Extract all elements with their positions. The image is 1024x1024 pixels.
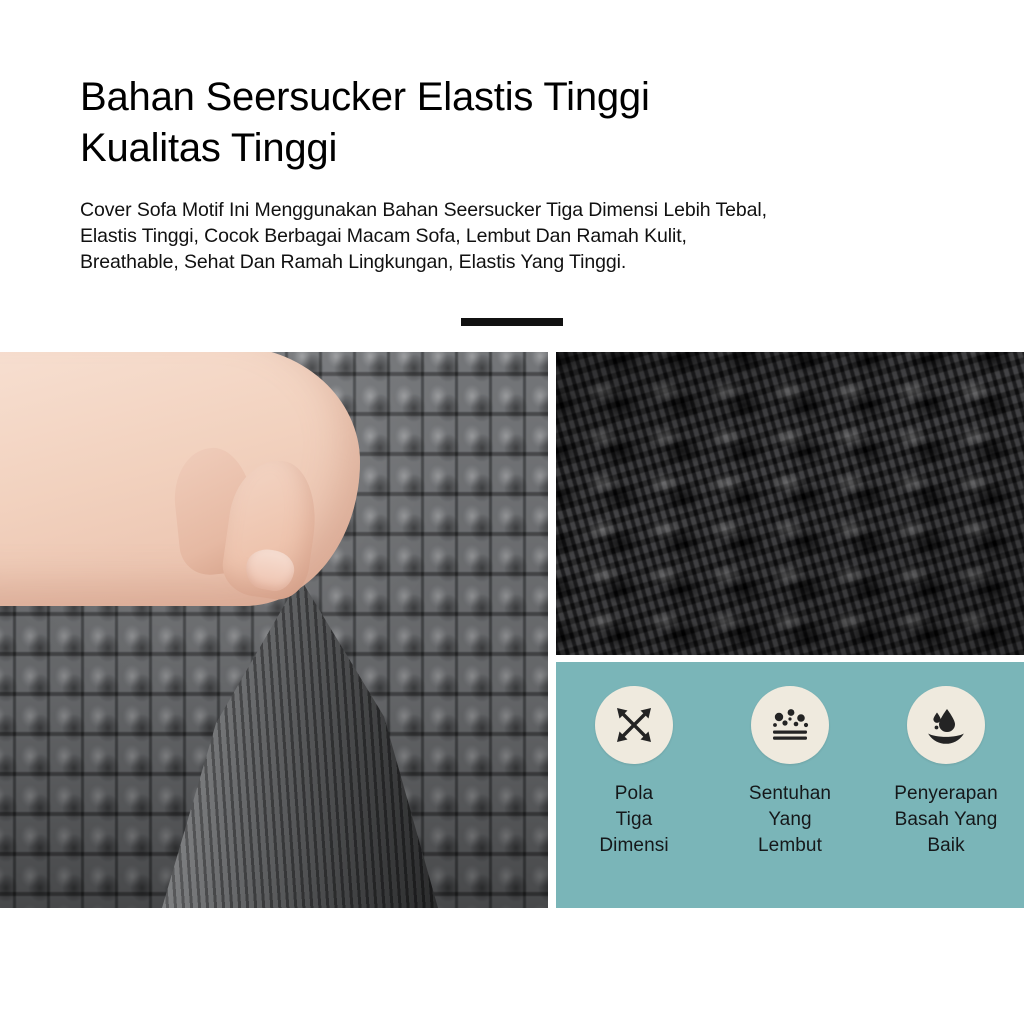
four-way-arrow-icon: [611, 702, 657, 748]
badge-circle: [595, 686, 673, 764]
feature-item-pola-tiga-dimensi: Pola Tiga Dimensi: [564, 686, 704, 859]
soft-touch-dots-icon: [767, 702, 813, 748]
page-title: Bahan Seersucker Elastis Tinggi Kualitas…: [80, 72, 980, 174]
description-text: Cover Sofa Motif Ini Menggunakan Bahan S…: [80, 174, 980, 275]
feature-benefits-panel: Pola Tiga Dimensi: [556, 662, 1024, 908]
badge-circle: [907, 686, 985, 764]
product-infographic: Bahan Seersucker Elastis Tinggi Kualitas…: [0, 0, 1024, 1024]
badge-circle: [751, 686, 829, 764]
feature-label: Pola Tiga Dimensi: [599, 781, 668, 859]
photo-hand-stretching-fabric: [0, 352, 548, 908]
feature-item-sentuhan-yang-lembut: Sentuhan Yang Lembut: [720, 686, 860, 859]
header-block: Bahan Seersucker Elastis Tinggi Kualitas…: [80, 72, 980, 275]
water-absorption-icon: [923, 702, 969, 748]
feature-label: Penyerapan Basah Yang Baik: [894, 781, 997, 859]
photo-shading-macro: [556, 352, 1024, 655]
feature-item-penyerapan-basah: Penyerapan Basah Yang Baik: [876, 686, 1016, 859]
section-divider: [461, 318, 563, 326]
photo-fabric-macro: [556, 352, 1024, 655]
feature-label: Sentuhan Yang Lembut: [749, 781, 831, 859]
